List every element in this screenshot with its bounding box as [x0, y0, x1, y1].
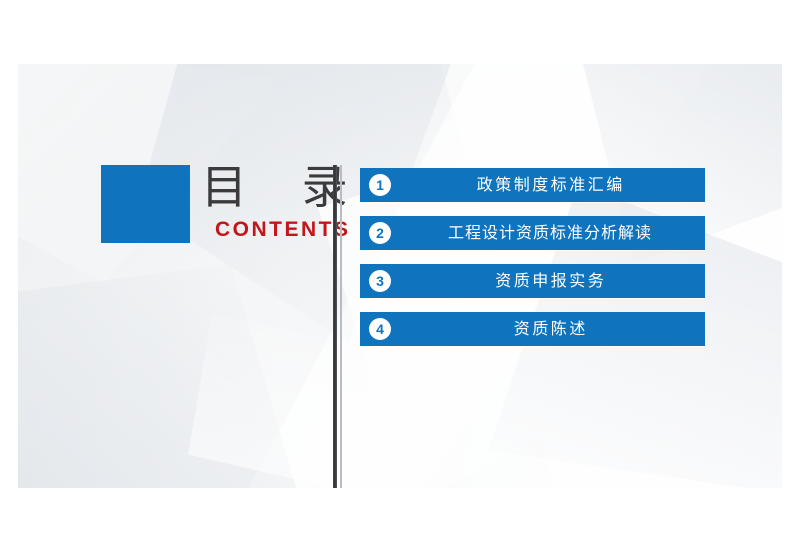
agenda-item-3[interactable]: 3 资质申报实务: [360, 264, 705, 298]
agenda-item-1[interactable]: 1 政策制度标准汇编: [360, 168, 705, 202]
agenda-number-badge-1: 1: [369, 174, 391, 196]
page-canvas: 目 录 CONTENTS 1 政策制度标准汇编 2 工程设计资质标准分析解读 3…: [0, 0, 800, 553]
page-title: 目 录: [201, 157, 368, 217]
agenda-item-2[interactable]: 2 工程设计资质标准分析解读: [360, 216, 705, 250]
agenda-label-4: 资质陈述: [400, 312, 699, 346]
agenda-item-4[interactable]: 4 资质陈述: [360, 312, 705, 346]
presentation-slide: 目 录 CONTENTS 1 政策制度标准汇编 2 工程设计资质标准分析解读 3…: [18, 64, 782, 488]
agenda-number-badge-2: 2: [369, 222, 391, 244]
agenda-list: 1 政策制度标准汇编 2 工程设计资质标准分析解读 3 资质申报实务 4 资质陈…: [360, 168, 705, 346]
agenda-number-badge-3: 3: [369, 270, 391, 292]
agenda-label-2: 工程设计资质标准分析解读: [400, 216, 699, 250]
slide-title-block: 目 录 CONTENTS: [101, 165, 351, 257]
agenda-label-3: 资质申报实务: [400, 264, 699, 298]
vertical-divider-thin: [340, 165, 342, 488]
accent-square: [101, 165, 190, 243]
agenda-label-1: 政策制度标准汇编: [400, 168, 699, 202]
page-subtitle: CONTENTS: [215, 218, 351, 242]
agenda-number-badge-4: 4: [369, 318, 391, 340]
vertical-divider-thick: [333, 165, 337, 488]
